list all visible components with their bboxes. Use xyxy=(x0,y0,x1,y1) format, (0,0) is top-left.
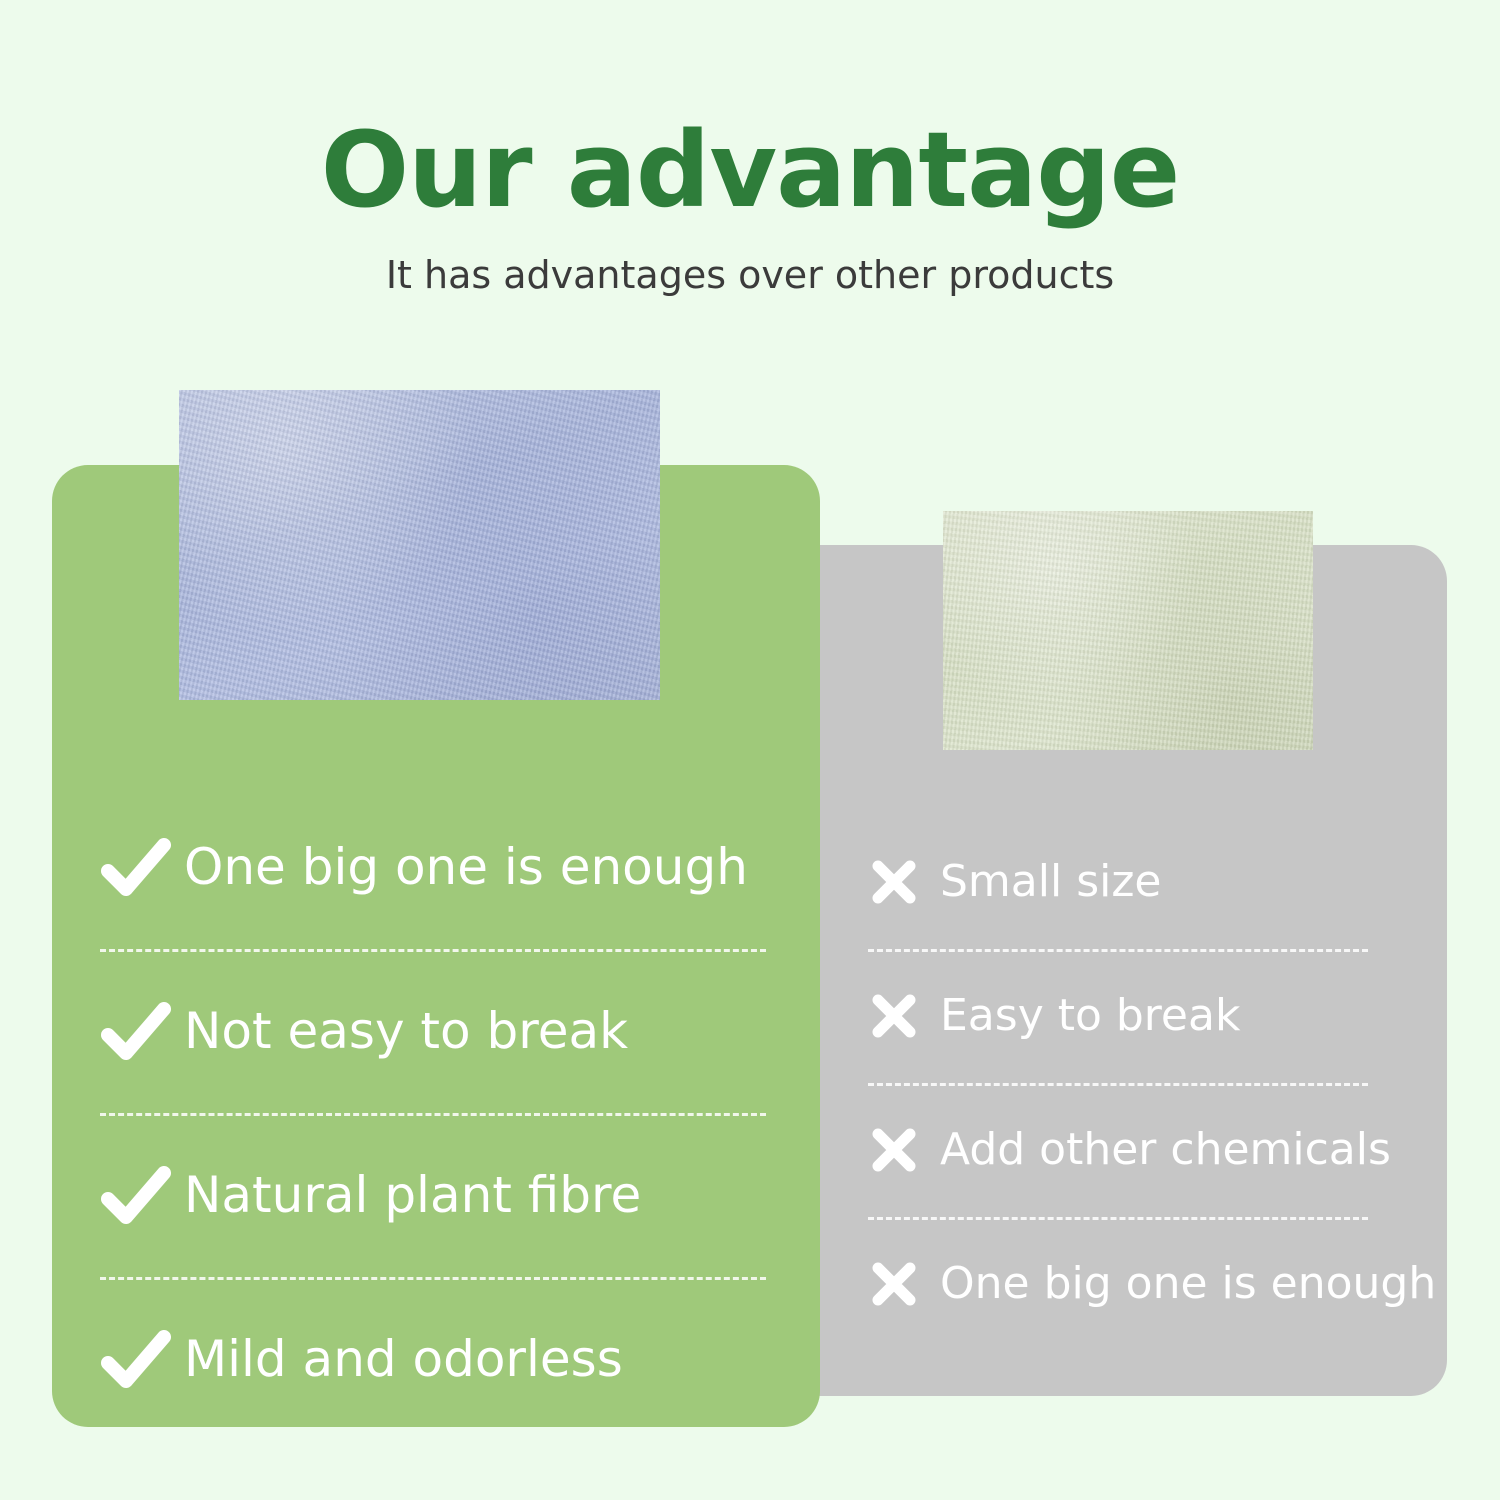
list-item: Mild and odorless xyxy=(100,1277,800,1441)
cross-icon xyxy=(868,1126,920,1174)
list-item: Easy to break xyxy=(868,949,1448,1083)
list-item: One big one is enough xyxy=(868,1217,1448,1351)
positive-feature-list: One big one is enough Not easy to break … xyxy=(100,785,800,1441)
list-item: One big one is enough xyxy=(100,785,800,949)
page-subtitle: It has advantages over other products xyxy=(0,222,1500,294)
green-cloth-swatch xyxy=(943,511,1313,750)
list-item: Add other chemicals xyxy=(868,1083,1448,1217)
list-item-label: One big one is enough xyxy=(184,842,748,892)
list-item: Small size xyxy=(868,815,1448,949)
check-icon xyxy=(100,1327,172,1391)
advantage-comparison-page: Our advantage It has advantages over oth… xyxy=(0,0,1500,1500)
list-item-label: Add other chemicals xyxy=(940,1128,1391,1172)
check-icon xyxy=(100,999,172,1063)
header: Our advantage It has advantages over oth… xyxy=(0,0,1500,294)
check-icon xyxy=(100,835,172,899)
negative-feature-list: Small size Easy to break Add other chemi… xyxy=(868,815,1448,1351)
blue-cloth-swatch xyxy=(179,390,660,700)
cross-icon xyxy=(868,858,920,906)
list-item: Not easy to break xyxy=(100,949,800,1113)
list-item-label: Natural plant fibre xyxy=(184,1170,641,1220)
list-item-label: Small size xyxy=(940,860,1162,904)
page-title: Our advantage xyxy=(0,0,1500,222)
list-item: Natural plant fibre xyxy=(100,1113,800,1277)
cross-icon xyxy=(868,1260,920,1308)
list-item-label: Mild and odorless xyxy=(184,1334,623,1384)
check-icon xyxy=(100,1163,172,1227)
list-item-label: Not easy to break xyxy=(184,1006,628,1056)
list-item-label: Easy to break xyxy=(940,994,1240,1038)
cross-icon xyxy=(868,992,920,1040)
list-item-label: One big one is enough xyxy=(940,1262,1436,1306)
